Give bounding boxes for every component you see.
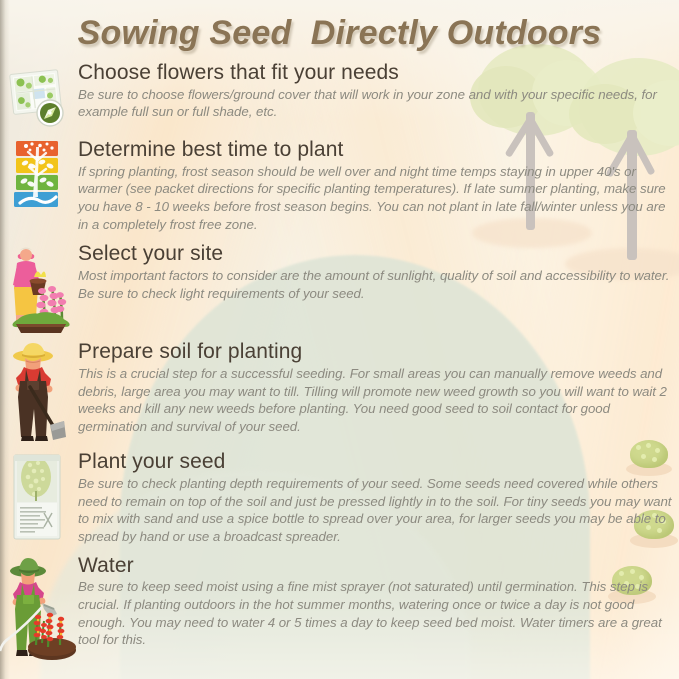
step-item: Select your site Most important factors …	[0, 243, 679, 333]
step-description: If spring planting, frost season should …	[78, 163, 673, 234]
step-item: Plant your seed Be sure to check plantin…	[0, 451, 679, 545]
gardener-watering-icon	[0, 555, 78, 665]
step-description: Most important factors to consider are t…	[78, 267, 673, 302]
four-seasons-icon	[0, 139, 78, 211]
step-description: Be sure to check planting depth requirem…	[78, 475, 673, 546]
step-icon-container	[0, 555, 78, 665]
step-item: Determine best time to plant If spring p…	[0, 139, 679, 233]
garden-plan-compass-icon	[0, 62, 78, 130]
step-text: Determine best time to plant If spring p…	[78, 139, 679, 233]
step-item: Choose flowers that fit your needs Be su…	[0, 62, 679, 130]
infographic-poster: Sowing Seed Directly Outdoors	[0, 0, 679, 679]
step-text: Plant your seed Be sure to check plantin…	[78, 451, 679, 545]
step-icon-container	[0, 62, 78, 130]
step-description: Be sure to keep seed moist using a fine …	[78, 578, 673, 649]
step-text: Select your site Most important factors …	[78, 243, 679, 302]
steps-list: Choose flowers that fit your needs Be su…	[0, 62, 679, 665]
step-title: Prepare soil for planting	[78, 341, 673, 364]
step-title: Determine best time to plant	[78, 139, 673, 162]
step-item: Prepare soil for planting This is a cruc…	[0, 341, 679, 443]
step-icon-container	[0, 243, 78, 333]
step-text: Water Be sure to keep seed moist using a…	[78, 555, 679, 649]
gardener-with-shovel-icon	[0, 341, 78, 443]
step-icon-container	[0, 451, 78, 543]
page-title: Sowing Seed Directly Outdoors	[0, 14, 679, 53]
step-text: Choose flowers that fit your needs Be su…	[78, 62, 679, 121]
step-text: Prepare soil for planting This is a cruc…	[78, 341, 679, 435]
step-description: Be sure to choose flowers/ground cover t…	[78, 86, 673, 121]
step-icon-container	[0, 341, 78, 443]
step-title: Water	[78, 555, 673, 578]
flower-planter-person-icon	[0, 243, 78, 333]
step-title: Choose flowers that fit your needs	[78, 62, 673, 85]
step-icon-container	[0, 139, 78, 211]
step-title: Select your site	[78, 243, 673, 266]
step-title: Plant your seed	[78, 451, 673, 474]
seed-packet-icon	[0, 451, 78, 543]
step-description: This is a crucial step for a successful …	[78, 365, 673, 436]
step-item: Water Be sure to keep seed moist using a…	[0, 555, 679, 665]
